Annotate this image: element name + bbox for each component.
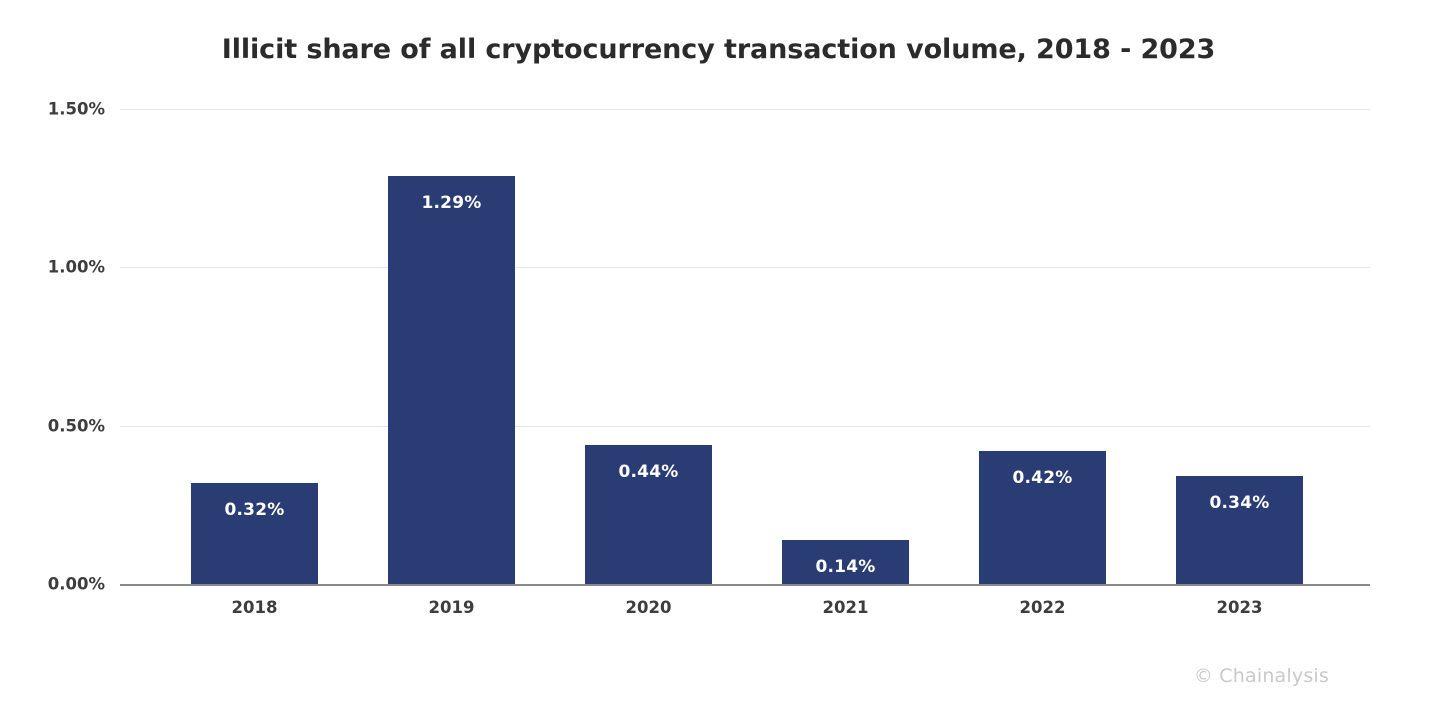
x-axis-tick-label: 2023 <box>1176 598 1303 617</box>
x-axis-tick-label: 2018 <box>191 598 318 617</box>
x-axis-tick-label: 2022 <box>979 598 1106 617</box>
bar-value-label: 0.14% <box>782 557 909 577</box>
bar-value-label: 1.29% <box>388 193 515 213</box>
bar[interactable]: 0.14% <box>782 540 909 584</box>
bar-value-label: 0.32% <box>191 500 318 520</box>
bar[interactable]: 0.34% <box>1176 476 1303 584</box>
x-axis-tick-label: 2021 <box>782 598 909 617</box>
x-axis-baseline <box>120 584 1370 586</box>
bar-value-label: 0.42% <box>979 468 1106 488</box>
x-axis-tick-label: 2020 <box>585 598 712 617</box>
bar-value-label: 0.44% <box>585 462 712 482</box>
bar[interactable]: 0.42% <box>979 451 1106 584</box>
bar[interactable]: 0.32% <box>191 483 318 584</box>
bar[interactable]: 1.29% <box>388 176 515 585</box>
x-axis-tick-label: 2019 <box>388 598 515 617</box>
gridline <box>120 426 1370 427</box>
chart-figure: Illicit share of all cryptocurrency tran… <box>0 0 1437 719</box>
y-axis-tick-label: 0.50% <box>15 416 105 435</box>
plot-area: 0.32%1.29%0.44%0.14%0.42%0.34% <box>120 109 1370 584</box>
gridline <box>120 267 1370 268</box>
attribution-watermark: © Chainalysis <box>1194 665 1329 687</box>
gridline <box>120 109 1370 110</box>
y-axis-tick-label: 0.00% <box>15 575 105 594</box>
y-axis-tick-label: 1.00% <box>15 258 105 277</box>
chart-title: Illicit share of all cryptocurrency tran… <box>0 34 1437 65</box>
bar-value-label: 0.34% <box>1176 493 1303 513</box>
y-axis-tick-label: 1.50% <box>15 100 105 119</box>
bar[interactable]: 0.44% <box>585 445 712 584</box>
